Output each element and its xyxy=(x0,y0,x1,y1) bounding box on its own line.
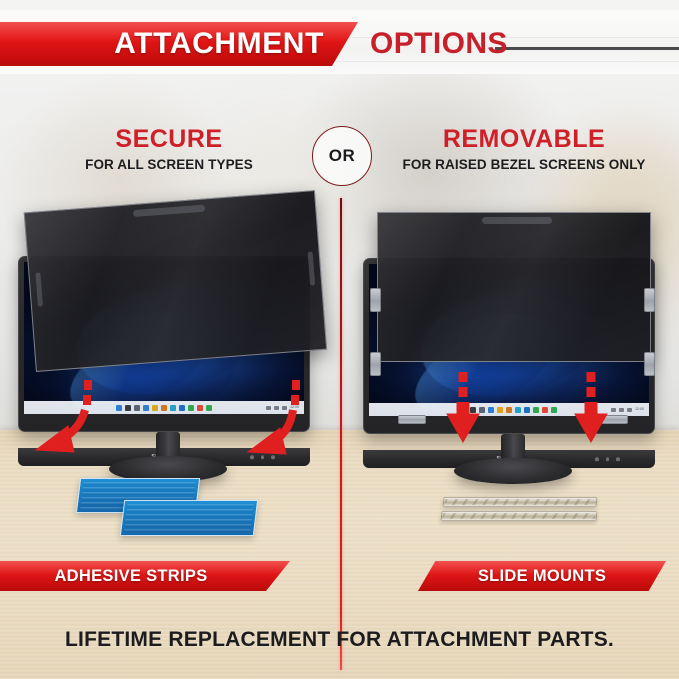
header-rule xyxy=(495,47,679,50)
slide-mount-clip xyxy=(370,288,381,312)
right-arrow-outer xyxy=(575,372,607,442)
header-bar: ATTACHMENT OPTIONS xyxy=(0,0,679,86)
filter-top-notch xyxy=(482,217,552,224)
left-part-tag: ADHESIVE STRIPS xyxy=(0,561,290,591)
right-title: REMOVABLE xyxy=(378,126,670,152)
left-arrow-inner xyxy=(36,380,88,452)
left-arrow-outer xyxy=(248,380,296,454)
adhesive-strip-pack xyxy=(120,500,258,536)
right-monitor-buttons[interactable] xyxy=(595,457,620,461)
adhesive-strip-lines xyxy=(124,504,253,532)
left-part-tag-label: ADHESIVE STRIPS xyxy=(54,567,207,586)
header-accent-label: OPTIONS xyxy=(370,22,508,66)
slide-mount-clip xyxy=(644,288,655,312)
infographic-canvas: ATTACHMENT OPTIONS SECURE FOR ALL SCREEN… xyxy=(0,0,679,679)
footer-text: LIFETIME REPLACEMENT FOR ATTACHMENT PART… xyxy=(0,622,679,658)
slide-mount-grain xyxy=(445,499,596,505)
right-part-tag-label: SLIDE MOUNTS xyxy=(478,567,606,586)
column-divider xyxy=(340,198,342,670)
right-part-tag: SLIDE MOUNTS xyxy=(418,561,666,591)
filter-sheen xyxy=(25,191,326,371)
right-privacy-filter xyxy=(377,212,651,362)
right-arrow-group xyxy=(363,372,663,452)
filter-sheen xyxy=(378,213,650,361)
slide-mount-grain xyxy=(443,513,596,519)
left-subtitle: FOR ALL SCREEN TYPES xyxy=(36,158,302,173)
header-banner-label: ATTACHMENT xyxy=(0,22,358,66)
or-badge-label: OR xyxy=(329,146,356,166)
monitor-button[interactable] xyxy=(606,457,610,461)
right-column-heading: REMOVABLE FOR RAISED BEZEL SCREENS ONLY xyxy=(378,126,670,173)
or-badge: OR xyxy=(312,126,372,186)
right-arrow-inner xyxy=(447,372,479,442)
right-monitor-base xyxy=(454,458,572,484)
left-title: SECURE xyxy=(36,126,302,152)
monitor-button[interactable] xyxy=(595,457,599,461)
slide-mount-strip xyxy=(440,511,597,521)
slide-mount-strip xyxy=(442,497,597,507)
left-arrow-group xyxy=(18,378,318,470)
left-privacy-filter xyxy=(24,190,327,372)
left-column-heading: SECURE FOR ALL SCREEN TYPES xyxy=(36,126,302,173)
right-subtitle: FOR RAISED BEZEL SCREENS ONLY xyxy=(378,158,670,173)
monitor-button[interactable] xyxy=(616,457,620,461)
